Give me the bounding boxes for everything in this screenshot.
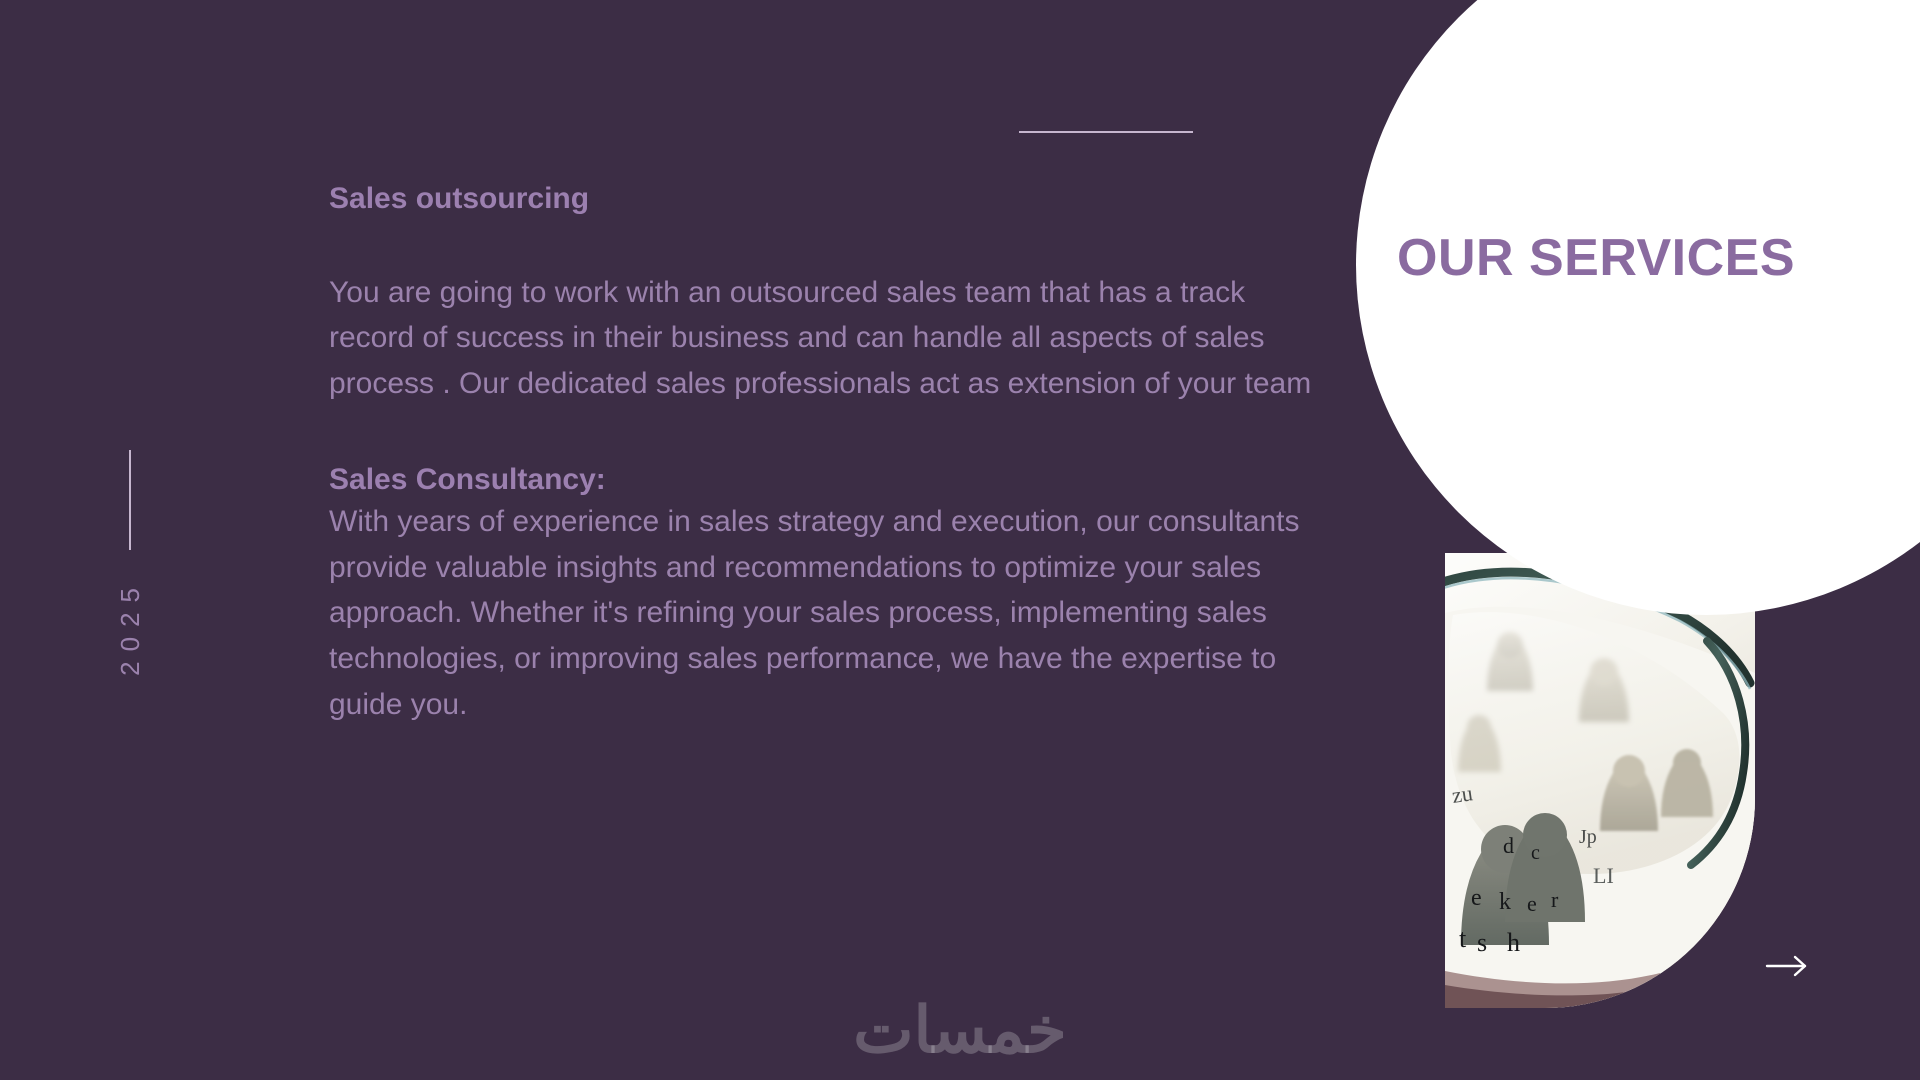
services-content: Sales outsourcing You are going to work …: [329, 180, 1329, 728]
svg-text:c: c: [1531, 842, 1540, 864]
year-vertical-line: [129, 450, 131, 550]
spacer: [329, 407, 1329, 461]
section-heading-consultancy: Sales Consultancy:: [329, 461, 1329, 499]
svg-text:e: e: [1527, 891, 1537, 916]
svg-text:e: e: [1471, 885, 1482, 911]
svg-text:h: h: [1507, 928, 1520, 957]
svg-text:zu: zu: [1450, 780, 1474, 808]
watermark-text: خمسات: [0, 998, 1920, 1062]
svg-text:t: t: [1459, 924, 1467, 953]
section-body-consultancy: With years of experience in sales strate…: [329, 499, 1329, 728]
spacer: [329, 218, 1329, 270]
services-photo: d c e k e r t s h zu Jp LI: [1445, 553, 1755, 1008]
decorative-white-circle: [1356, 0, 1920, 615]
photo-artwork: d c e k e r t s h zu Jp LI: [1445, 553, 1755, 1008]
slide-canvas: d c e k e r t s h zu Jp LI OUR SERVICES: [0, 0, 1920, 1080]
svg-text:r: r: [1551, 887, 1559, 912]
year-marker: 2025: [100, 450, 160, 676]
year-label: 2025: [115, 578, 146, 676]
section-heading-outsourcing: Sales outsourcing: [329, 180, 1329, 218]
top-divider-rule: [1019, 131, 1193, 133]
page-title: OUR SERVICES: [1397, 228, 1795, 288]
svg-text:d: d: [1503, 833, 1514, 858]
svg-text:s: s: [1477, 928, 1487, 957]
svg-text:Jp: Jp: [1579, 826, 1597, 848]
section-body-outsourcing: You are going to work with an outsourced…: [329, 270, 1329, 408]
arrow-right-icon[interactable]: [1765, 955, 1809, 977]
svg-text:LI: LI: [1593, 863, 1614, 888]
svg-text:k: k: [1499, 889, 1511, 915]
